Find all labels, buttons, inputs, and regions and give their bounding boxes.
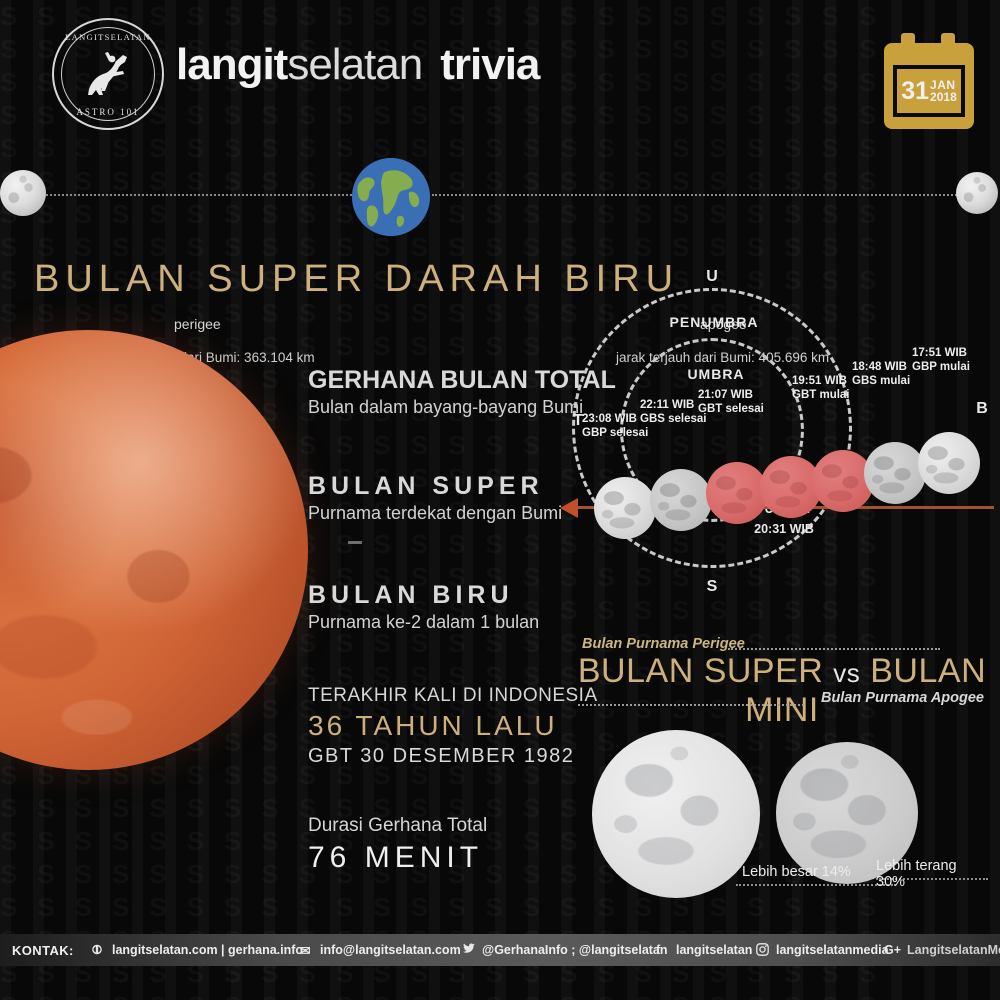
event-time: 23:08 WIB (582, 413, 637, 425)
rss-icon: ⦷ (92, 943, 106, 957)
last-occurrence-line1: TERAKHIR KALI DI INDONESIA (308, 685, 598, 707)
apogee-moon-icon (956, 172, 998, 214)
instagram-icon (756, 943, 770, 957)
event-label-2107: 21:07 WIB GBT selesai (698, 388, 764, 416)
compare-title-vs: vs (833, 658, 860, 688)
dotted-line-left (38, 194, 368, 196)
duration-value: 76 MENIT (308, 841, 487, 875)
last-occurrence-block: TERAKHIR KALI DI INDONESIA 36 TAHUN LALU… (308, 685, 598, 768)
separator-dash (348, 541, 362, 544)
direction-arrow-icon (560, 498, 578, 518)
eclipse-moon-1 (594, 477, 656, 539)
feature-item-bulan-super: BULAN SUPER Purnama terdekat dengan Bumi (308, 472, 562, 524)
calendar-body: 31 JAN 2018 (884, 43, 974, 129)
footer-item-googleplus[interactable]: G+ LangitselatanMedia (884, 943, 1000, 957)
feature-title: BULAN BIRU (308, 581, 539, 610)
facebook-icon: f (656, 943, 670, 957)
event-name: GBS mulai (852, 375, 910, 387)
horse-rider-icon (79, 49, 137, 99)
calendar-day: 31 (901, 79, 929, 104)
calendar-inner-frame: 31 JAN 2018 (893, 65, 965, 117)
caption-brighter: Lebih terang 30% (876, 858, 988, 890)
event-time: 21:07 WIB (698, 389, 753, 401)
dotted-line-right (432, 194, 964, 196)
footer-item-text: langitselatan (676, 943, 752, 957)
calendar-year: 2018 (930, 91, 957, 103)
penumbra-label: PENUMBRA (666, 314, 762, 330)
label-south: S (696, 578, 728, 596)
kontak-label: KONTAK: (12, 934, 74, 966)
label-north: U (696, 268, 728, 286)
brand-trivia: trivia (440, 40, 539, 89)
event-time: 17:51 WIB (912, 347, 967, 359)
eclipse-moon-2 (650, 469, 712, 531)
logo-top-text: LANGITSELATAN (52, 32, 164, 42)
footer-item-text: langitselatan.com | gerhana.info (112, 943, 303, 957)
compare-sub-left: Bulan Purnama Perigee (582, 636, 745, 652)
logo-bottom-text: ASTRO 101 (52, 107, 164, 117)
event-label-2211: 22:11 WIB GBS selesai (640, 398, 706, 426)
peak-time: 20:31 WIB (740, 522, 828, 536)
twitter-icon (462, 943, 476, 957)
feature-title: BULAN SUPER (308, 472, 562, 501)
footer-item-website[interactable]: ⦷ langitselatan.com | gerhana.info (92, 943, 303, 957)
umbra-label: UMBRA (676, 366, 756, 382)
eclipse-moon-7 (918, 432, 980, 494)
footer-item-text: LangitselatanMedia (907, 943, 1000, 957)
event-name: GBP mulai (912, 361, 970, 373)
blood-moon-image (0, 330, 308, 770)
calendar-monthyear: JAN 2018 (930, 79, 957, 103)
duration-label: Durasi Gerhana Total (308, 815, 487, 837)
eclipse-moon-3 (706, 462, 768, 524)
blood-moon-surface (0, 330, 308, 770)
feature-subtitle: Purnama terdekat dengan Bumi (308, 503, 562, 524)
footer-item-text: @GerhanaInfo ; @langitselatan (482, 943, 668, 957)
googleplus-icon: G+ (884, 943, 901, 957)
last-occurrence-line2: 36 TAHUN LALU (308, 710, 598, 742)
footer-item-instagram[interactable]: langitselatanmedia (756, 943, 889, 957)
event-name: GBP selesai (582, 427, 648, 439)
header: LANGITSELATAN ASTRO 101 langitselatantri… (0, 0, 1000, 148)
event-label-2308: 23:08 WIB GBP selesai (582, 412, 648, 440)
duration-block: Durasi Gerhana Total 76 MENIT (308, 815, 487, 875)
langitselatan-logo: LANGITSELATAN ASTRO 101 (52, 18, 164, 130)
event-time: 18:48 WIB (852, 361, 907, 373)
perigee-label: perigee (174, 316, 221, 332)
calendar-screen: 31 JAN 2018 (897, 69, 961, 113)
earth-globe-icon (352, 158, 430, 236)
moon-large-icon (592, 730, 760, 898)
feature-item-bulan-biru: BULAN BIRU Purnama ke-2 dalam 1 bulan (308, 581, 539, 633)
footer-item-text: info@langitselatan.com (320, 943, 461, 957)
compare-dotted-line-top (728, 648, 940, 650)
event-label-1848: 18:48 WIB GBS mulai (852, 360, 910, 388)
footer-item-twitter[interactable]: @GerhanaInfo ; @langitselatan (462, 943, 668, 957)
compare-title-left: BULAN SUPER (578, 652, 823, 690)
perigee-moon-icon (0, 170, 46, 216)
email-icon: ✉ (300, 943, 314, 957)
footer-item-text: langitselatanmedia (776, 943, 889, 957)
event-name: GBS selesai (640, 413, 706, 425)
super-vs-mini-section: Bulan Purnama Perigee BULAN SUPER vs BUL… (576, 636, 988, 906)
event-name: GBT selesai (698, 403, 764, 415)
last-occurrence-line3: GBT 30 DESEMBER 1982 (308, 745, 598, 768)
brand-bold: langit (176, 40, 287, 89)
brand-title: langitselatantrivia (176, 40, 539, 90)
event-label-1751: 17:51 WIB GBP mulai (912, 346, 970, 374)
event-label-1951: 19:51 WIB GBT mulai (792, 374, 850, 402)
footer-item-facebook[interactable]: f langitselatan (656, 943, 752, 957)
brand-thin: selatan (287, 40, 422, 89)
eclipse-moon-6 (864, 442, 926, 504)
event-name: GBT mulai (792, 389, 850, 401)
caption-bigger: Lebih besar 14% (742, 864, 851, 880)
label-east: B (970, 400, 994, 418)
event-time: 22:11 WIB (640, 399, 694, 411)
perigee-apogee-band: perigee jarak terdekat dari Bumi: 363.10… (0, 150, 1000, 242)
eclipse-diagram: U S T B PENUMBRA UMBRA PUNCAK 20:31 WIB … (556, 276, 1000, 616)
footer-item-email[interactable]: ✉ info@langitselatan.com (300, 943, 461, 957)
feature-subtitle: Purnama ke-2 dalam 1 bulan (308, 612, 539, 633)
compare-sub-right: Bulan Purnama Apogee (821, 690, 984, 706)
calendar-icon: 31 JAN 2018 (884, 33, 974, 129)
compare-dotted-line-bottom (578, 704, 804, 706)
infographic-root: SSSSSSSSSSSSSSSSSSSSSSSS SSSSSSSSSSSSSSS… (0, 0, 1000, 1000)
event-time: 19:51 WIB (792, 375, 847, 387)
caption-line-left (736, 884, 896, 886)
